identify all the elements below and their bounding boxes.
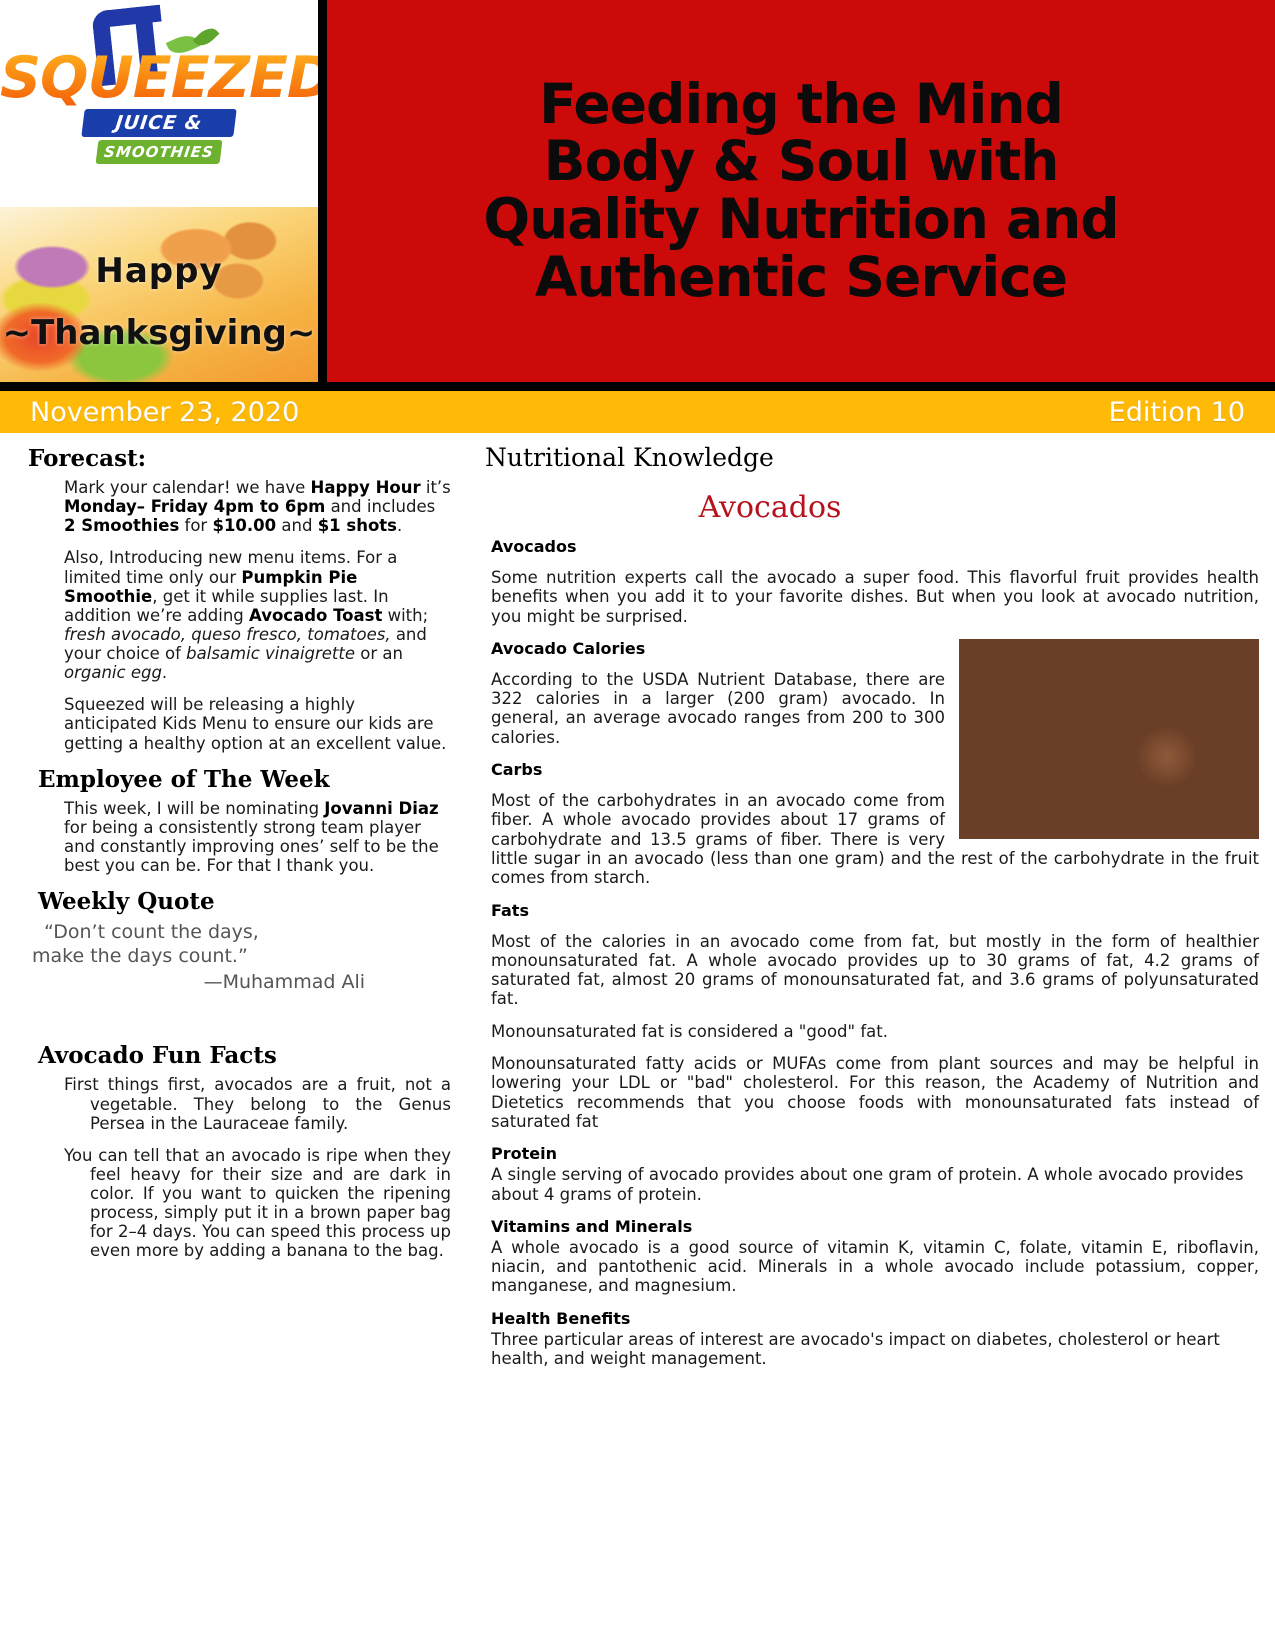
masthead-tagline: Feeding the Mind Body & Soul with Qualit…: [473, 76, 1128, 307]
tagline-line-1: Feeding the Mind: [483, 76, 1118, 134]
subheading-fats: Fats: [491, 901, 1259, 920]
thanksgiving-banner: Happy ~Thanksgiving~: [0, 207, 318, 382]
paragraph-protein: A single serving of avocado provides abo…: [491, 1165, 1259, 1204]
squeezed-logo: SQUEEZED JUICE & SMOOTHIES: [0, 0, 318, 207]
quote-line-2: make the days count.”: [32, 945, 457, 969]
tagline-line-3: Quality Nutrition and: [483, 191, 1118, 249]
left-column: Forecast: Mark your calendar! we have Ha…: [16, 439, 471, 1381]
forecast-heading: Forecast:: [28, 445, 457, 472]
masthead-left: SQUEEZED JUICE & SMOOTHIES Happy ~Thanks…: [0, 0, 318, 382]
holiday-line-2: ~Thanksgiving~: [0, 313, 318, 353]
paragraph-avocados: Some nutrition experts call the avocado …: [491, 568, 1259, 626]
masthead: SQUEEZED JUICE & SMOOTHIES Happy ~Thanks…: [0, 0, 1275, 382]
subheading-avocados: Avocados: [491, 537, 1259, 556]
fun-fact-2: You can tell that an avocado is ripe whe…: [64, 1146, 451, 1261]
employee-paragraph: This week, I will be nominating Jovanni …: [64, 799, 451, 876]
avocado-photo: [959, 639, 1259, 839]
article-title: Avocados: [481, 490, 1259, 525]
date-bar: November 23, 2020 Edition 10: [0, 391, 1275, 433]
logo-juice-text: JUICE &: [81, 109, 236, 137]
forecast-paragraph-3: Squeezed will be releasing a highly anti…: [64, 695, 451, 752]
paragraph-health-benefits: Three particular areas of interest are a…: [491, 1330, 1259, 1369]
weekly-quote-heading: Weekly Quote: [38, 888, 457, 915]
newsletter-page: SQUEEZED JUICE & SMOOTHIES Happy ~Thanks…: [0, 0, 1275, 1650]
logo-smoothies-text: SMOOTHIES: [96, 140, 223, 164]
quote-attribution: —Muhammad Ali: [44, 971, 365, 995]
holiday-line-1: Happy: [0, 251, 318, 291]
paragraph-fats: Most of the calories in an avocado come …: [491, 932, 1259, 1009]
content-columns: Forecast: Mark your calendar! we have Ha…: [0, 433, 1275, 1381]
paragraph-mufa: Monounsaturated fatty acids or MUFAs com…: [491, 1054, 1259, 1131]
nutritional-knowledge-heading: Nutritional Knowledge: [485, 443, 1259, 472]
edition-number: Edition 10: [1109, 397, 1245, 428]
subheading-vitamins-minerals: Vitamins and Minerals: [491, 1217, 1259, 1236]
forecast-paragraph-2: Also, Introducing new menu items. For a …: [64, 548, 451, 682]
fun-facts-heading: Avocado Fun Facts: [38, 1042, 457, 1069]
tagline-line-4: Authentic Service: [483, 249, 1118, 307]
fun-fact-1: First things first, avocados are a fruit…: [64, 1075, 451, 1132]
issue-date: November 23, 2020: [30, 397, 299, 428]
employee-heading: Employee of The Week: [38, 766, 457, 793]
paragraph-good-fat: Monounsaturated fat is considered a "goo…: [491, 1022, 1259, 1041]
logo-brand-text: SQUEEZED: [0, 50, 318, 107]
subheading-protein: Protein: [491, 1144, 1259, 1163]
tagline-line-2: Body & Soul with: [483, 133, 1118, 191]
masthead-banner: Feeding the Mind Body & Soul with Qualit…: [318, 0, 1275, 382]
forecast-paragraph-1: Mark your calendar! we have Happy Hour i…: [64, 478, 451, 535]
masthead-divider: [0, 382, 1275, 391]
weekly-quote-text: “Don’t count the days, make the days cou…: [44, 921, 457, 994]
right-column: Nutritional Knowledge Avocados Avocados …: [471, 439, 1259, 1381]
quote-line-1: “Don’t count the days,: [44, 921, 259, 943]
subheading-health-benefits: Health Benefits: [491, 1309, 1259, 1328]
paragraph-vitamins-minerals: A whole avocado is a good source of vita…: [491, 1238, 1259, 1296]
